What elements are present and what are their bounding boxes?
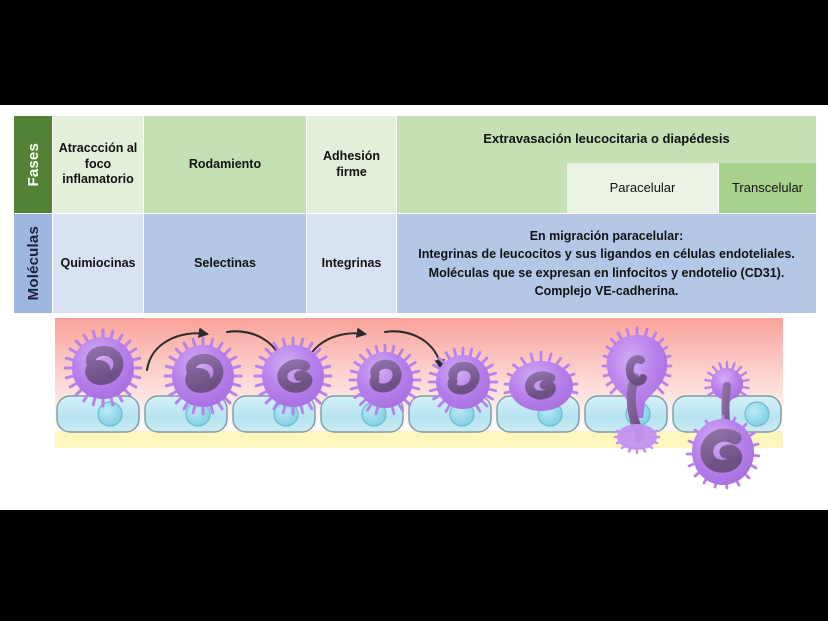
endothelial-cell-1 — [57, 396, 139, 432]
phase-cell-extravasacion-filler — [397, 163, 567, 213]
row-header-moleculas-label: Moléculas — [25, 226, 42, 300]
molecule-cell-selectinas: Selectinas — [144, 214, 306, 313]
molecule-label-selectinas: Selectinas — [194, 256, 256, 272]
leukocyte-nucleus — [530, 376, 552, 395]
row-header-moleculas: Moléculas — [14, 214, 52, 313]
slide-content: Fases Moléculas Atraccción al foco infla… — [0, 105, 828, 510]
leukocyte-rolling-1 — [165, 338, 241, 414]
subphase-label-transcelular: Transcelular — [732, 180, 803, 196]
phase-cell-extravasacion: Extravasación leucocitaria o diapédesis — [397, 116, 816, 163]
leukocyte-nucleus — [90, 351, 118, 380]
leukocyte-nucleus — [282, 364, 307, 388]
row-header-fases: Fases — [14, 116, 52, 213]
molecule-label-migracion-paracelular: En migración paracelular: Integrinas de … — [418, 227, 795, 300]
phases-molecules-table: Fases Moléculas Atraccción al foco infla… — [14, 116, 816, 313]
leukocyte-nucleus-transcellular — [707, 435, 736, 466]
molecule-label-integrinas: Integrinas — [322, 256, 382, 272]
slide-stage: Fases Moléculas Atraccción al foco infla… — [0, 0, 828, 621]
row-header-fases-label: Fases — [25, 143, 42, 187]
leukocyte-attraction — [65, 330, 141, 406]
subphase-label-paracelular: Paracelular — [610, 180, 676, 196]
phase-cell-rodamiento: Rodamiento — [144, 116, 306, 213]
extravasation-diagram — [55, 318, 783, 450]
molecule-cell-migracion-paracelular: En migración paracelular: Integrinas de … — [397, 214, 816, 313]
phase-label-adhesion-firme: Adhesión firme — [311, 149, 392, 180]
molecule-label-quimiocinas: Quimiocinas — [60, 256, 135, 272]
tissue-band — [55, 431, 783, 448]
phase-label-rodamiento: Rodamiento — [189, 157, 261, 173]
leukocyte-nucleus — [190, 359, 218, 388]
phase-label-extravasacion: Extravasación leucocitaria o diapédesis — [483, 131, 729, 147]
subphase-cell-transcelular: Transcelular — [719, 163, 816, 213]
leukocyte-adhesion-1 — [350, 345, 420, 414]
subphase-cell-paracelular: Paracelular — [567, 163, 718, 213]
leukocyte-rolling-2 — [255, 338, 331, 414]
phase-cell-atraccion: Atraccción al foco inflamatorio — [53, 116, 143, 213]
phase-label-atraccion: Atraccción al foco inflamatorio — [57, 141, 139, 188]
phase-cell-adhesion-firme: Adhesión firme — [307, 116, 396, 213]
molecule-cell-integrinas: Integrinas — [307, 214, 396, 313]
molecule-cell-quimiocinas: Quimiocinas — [53, 214, 143, 313]
